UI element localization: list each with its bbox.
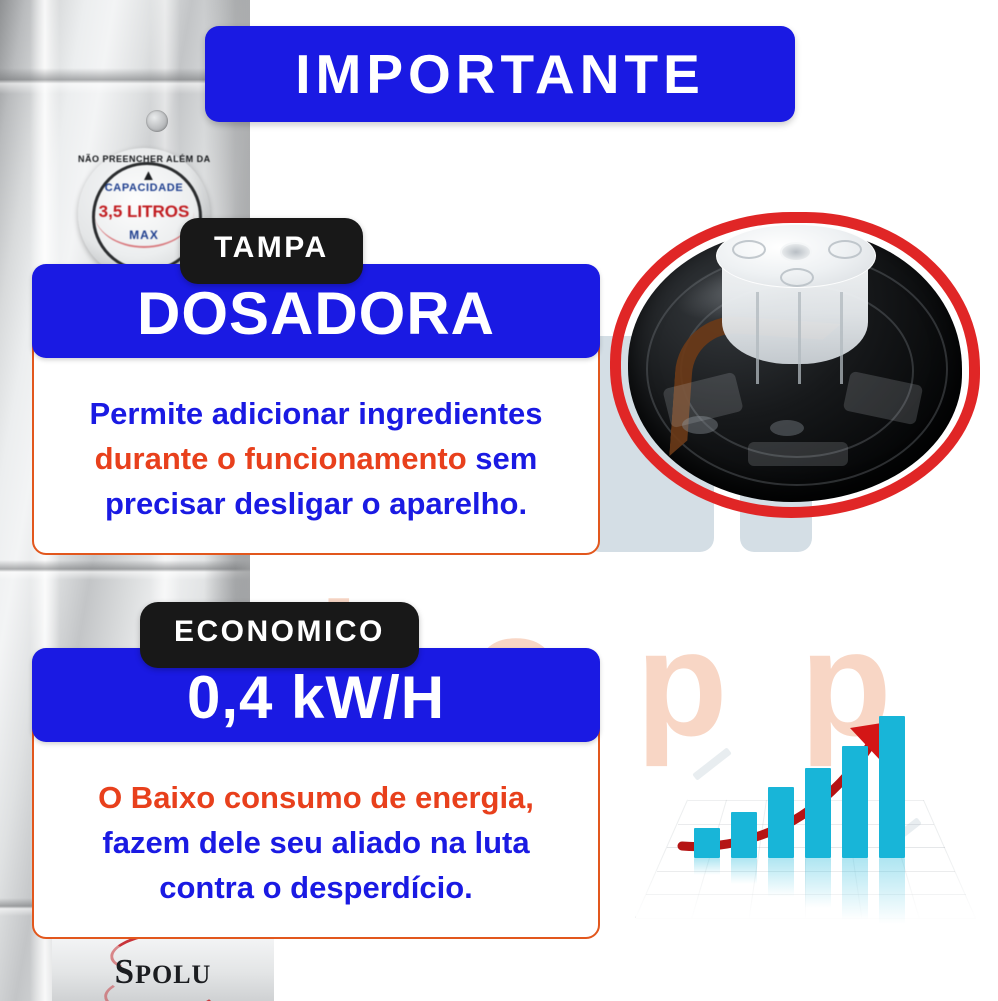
sticker-warning-text: NÃO PREENCHER ALÉM DA MARCA <box>78 154 210 164</box>
blender-lid-photo <box>600 206 990 536</box>
card-body-cover: Permite adicionar ingredientes durante o… <box>32 326 600 555</box>
card-line-segment: precisar desligar o aparelho. <box>105 486 527 521</box>
card-badge-label-cover: TAMPA <box>180 231 363 271</box>
card-badge-power: ECONOMICO <box>140 602 419 668</box>
growth-bar-chart <box>636 700 976 940</box>
card-line-segment-highlight: durante o funcionamento <box>95 441 467 476</box>
card-line: contra o desperdício. <box>52 866 580 911</box>
card-line-segment: Permite adicionar ingredientes <box>89 396 542 431</box>
card-title-power: 0,4 kW/H <box>187 662 445 728</box>
chart-bar-reflection <box>768 858 794 897</box>
card-line: fazem dele seu aliado na luta <box>52 821 580 866</box>
chart-bar <box>694 828 720 858</box>
sticker-capacity-label: CAPACIDADE <box>78 182 210 194</box>
brand-logo: SPOLU <box>52 938 274 1001</box>
card-badge-label-power: ECONOMICO <box>140 615 419 655</box>
header-banner: IMPORTANTE <box>205 26 795 122</box>
brand-logo-rest: POLU <box>135 960 211 989</box>
chart-bar <box>768 787 794 858</box>
chart-bar-reflection <box>842 858 868 920</box>
sticker-arrow-icon: ▲ <box>141 168 156 183</box>
chart-bar-reflection <box>879 858 905 924</box>
card-line-segment: fazem dele seu aliado na luta <box>102 825 529 860</box>
chart-bar <box>879 716 905 858</box>
card-line: O Baixo consumo de energia, <box>52 776 580 821</box>
brand-logo-lead: S <box>115 952 135 991</box>
jar-rivet-icon <box>146 110 168 132</box>
lid-red-outline <box>610 212 980 518</box>
infographic-canvas: NÃO PREENCHER ALÉM DA MARCA ▲ CAPACIDADE… <box>0 0 998 1001</box>
card-line: precisar desligar o aparelho. <box>52 482 580 527</box>
card-badge-cover: TAMPA <box>180 218 363 284</box>
chart-bar-reflection <box>694 858 720 875</box>
header-banner-label: IMPORTANTE <box>295 42 705 106</box>
card-line-segment-highlight: O Baixo consumo de energia, <box>98 780 534 815</box>
card-body-power: O Baixo consumo de energia, fazem dele s… <box>32 710 600 939</box>
chart-bar-reflection <box>805 858 831 908</box>
card-line-segment: sem <box>467 441 538 476</box>
card-title-cover: DOSADORA <box>137 278 495 344</box>
chart-bar <box>731 812 757 858</box>
chart-bar <box>842 746 868 858</box>
brand-logo-text: SPOLU <box>52 952 274 992</box>
card-line-segment: contra o desperdício. <box>159 870 473 905</box>
chart-bar <box>805 768 831 858</box>
card-line: durante o funcionamento sem <box>52 437 580 482</box>
chart-bar-reflection <box>731 858 757 884</box>
card-line: Permite adicionar ingredientes <box>52 392 580 437</box>
